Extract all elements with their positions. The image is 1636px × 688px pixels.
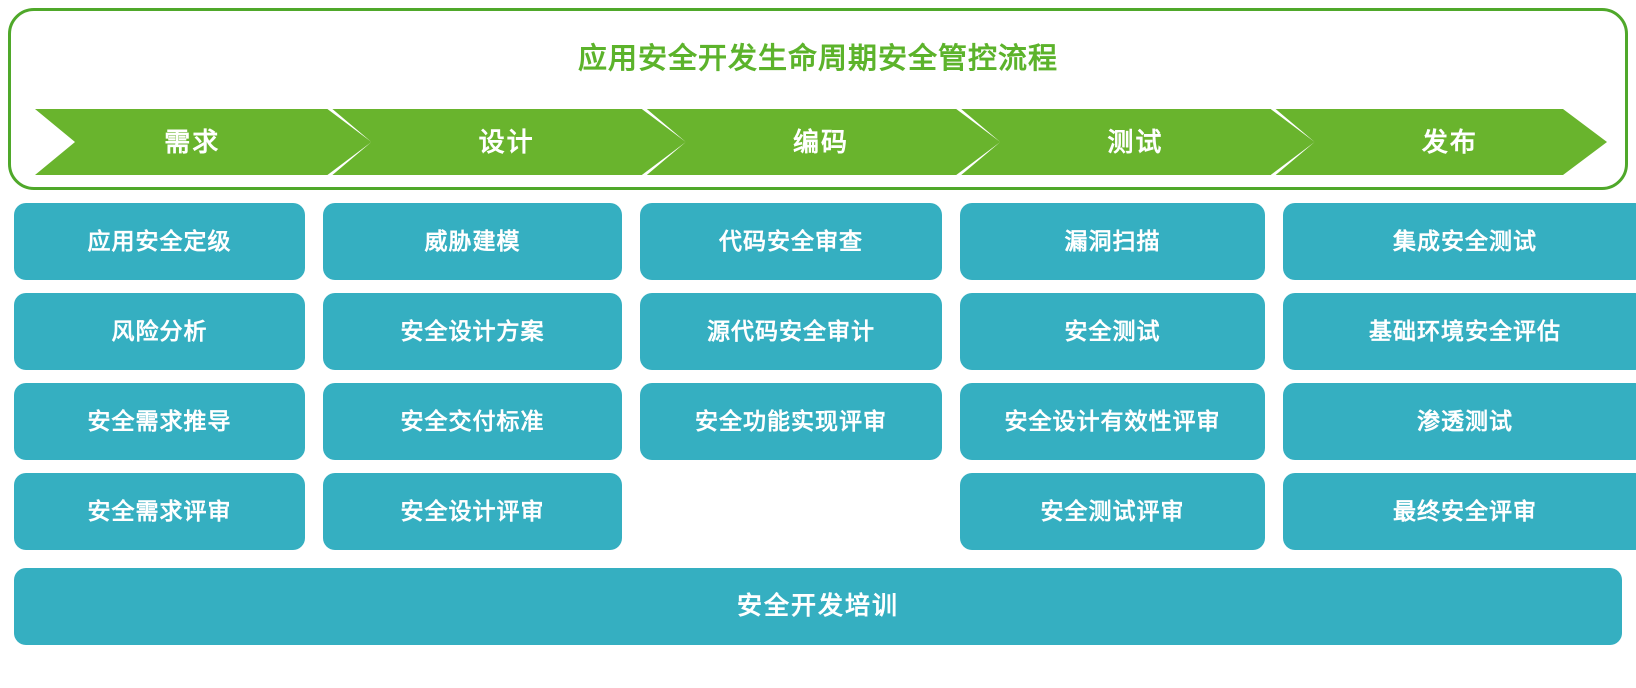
arrow-stage-list: 需求 设计 编码 测试 发布 <box>35 109 1607 175</box>
activity-card[interactable]: 安全交付标准 <box>323 383 622 460</box>
activity-card[interactable]: 威胁建模 <box>323 203 622 280</box>
activity-row: 应用安全定级 威胁建模 代码安全审查 漏洞扫描 集成安全测试 <box>14 203 1622 280</box>
arrow-stage-label: 编码 <box>793 129 849 155</box>
lifecycle-panel: 应用安全开发生命周期安全管控流程 需求 设计 编码 测试 发布 <box>8 8 1628 190</box>
activity-card[interactable]: 安全测试评审 <box>960 473 1265 550</box>
activity-row: 安全需求评审 安全设计评审 安全测试评审 最终安全评审 <box>14 473 1622 550</box>
activity-card-grid: 应用安全定级 威胁建模 代码安全审查 漏洞扫描 集成安全测试 风险分析 安全设计… <box>14 203 1622 550</box>
arrow-stage-testing[interactable]: 测试 <box>978 109 1292 175</box>
activity-card[interactable]: 安全测试 <box>960 293 1265 370</box>
activity-card[interactable]: 渗透测试 <box>1283 383 1636 460</box>
activity-card[interactable]: 安全需求评审 <box>14 473 305 550</box>
arrow-stage-label: 测试 <box>1107 129 1163 155</box>
arrow-stage-design[interactable]: 设计 <box>349 109 663 175</box>
arrow-stage-label: 设计 <box>479 129 535 155</box>
activity-row: 安全需求推导 安全交付标准 安全功能实现评审 安全设计有效性评审 渗透测试 <box>14 383 1622 460</box>
activity-row: 风险分析 安全设计方案 源代码安全审计 安全测试 基础环境安全评估 <box>14 293 1622 370</box>
footer-training-bar[interactable]: 安全开发培训 <box>14 568 1622 645</box>
activity-card[interactable]: 安全设计评审 <box>323 473 622 550</box>
arrow-stage-label: 需求 <box>164 129 220 155</box>
activity-card[interactable]: 源代码安全审计 <box>640 293 942 370</box>
activity-card[interactable]: 安全设计有效性评审 <box>960 383 1265 460</box>
arrow-stage-label: 发布 <box>1422 129 1478 155</box>
activity-card[interactable]: 最终安全评审 <box>1283 473 1636 550</box>
activity-card[interactable]: 风险分析 <box>14 293 305 370</box>
activity-card[interactable]: 安全需求推导 <box>14 383 305 460</box>
activity-card[interactable]: 集成安全测试 <box>1283 203 1636 280</box>
page-title: 应用安全开发生命周期安全管控流程 <box>11 45 1625 74</box>
activity-card[interactable]: 安全功能实现评审 <box>640 383 942 460</box>
sdl-process-diagram: 应用安全开发生命周期安全管控流程 需求 设计 编码 测试 发布 <box>0 0 1636 688</box>
activity-card[interactable]: 应用安全定级 <box>14 203 305 280</box>
activity-card-empty <box>640 473 942 550</box>
arrow-stage-coding[interactable]: 编码 <box>664 109 978 175</box>
activity-card[interactable]: 基础环境安全评估 <box>1283 293 1636 370</box>
activity-card[interactable]: 漏洞扫描 <box>960 203 1265 280</box>
footer-training-label: 安全开发培训 <box>737 594 899 619</box>
lifecycle-arrow-band: 需求 设计 编码 测试 发布 <box>35 109 1607 175</box>
arrow-stage-requirements[interactable]: 需求 <box>35 109 349 175</box>
activity-card[interactable]: 安全设计方案 <box>323 293 622 370</box>
activity-card[interactable]: 代码安全审查 <box>640 203 942 280</box>
arrow-stage-release[interactable]: 发布 <box>1293 109 1607 175</box>
